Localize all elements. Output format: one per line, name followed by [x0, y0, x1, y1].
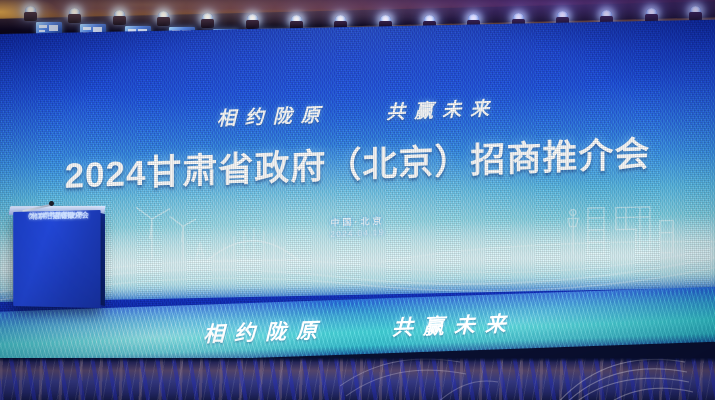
led-backdrop-screen: 相约陇原 共赢未来 2024甘肃省政府（北京）招商推介会 中国·北京 2024.… — [0, 20, 715, 319]
stage-spotlight-icon — [68, 8, 81, 23]
stage-spotlight-icon — [113, 10, 126, 25]
stage-spotlight-icon — [246, 14, 259, 29]
carpet-arc-motif-right — [545, 358, 695, 400]
conference-stage-photo: 相约陇原 共赢未来 2024甘肃省政府（北京）招商推介会 中国·北京 2024.… — [0, 0, 715, 400]
stage-front-edge-shadow — [0, 358, 715, 362]
stage-spotlight-icon — [157, 11, 170, 26]
led-pixel-grid — [0, 20, 715, 319]
carpeted-floor — [0, 358, 715, 400]
stage-spotlight-icon — [689, 6, 702, 21]
stage-spotlight-icon — [24, 6, 37, 21]
amber-wash-light — [0, 0, 60, 30]
podium-front-panel: 相约陇原 共赢未来 2024甘肃省政府 （北京）招商推介会 中国·北京 2024… — [13, 210, 100, 308]
stage-spotlight-icon — [201, 13, 214, 28]
speaker-podium: 相约陇原 共赢未来 2024甘肃省政府 （北京）招商推介会 中国·北京 2024… — [6, 211, 106, 321]
carpet-arc-motif-center — [340, 358, 500, 400]
